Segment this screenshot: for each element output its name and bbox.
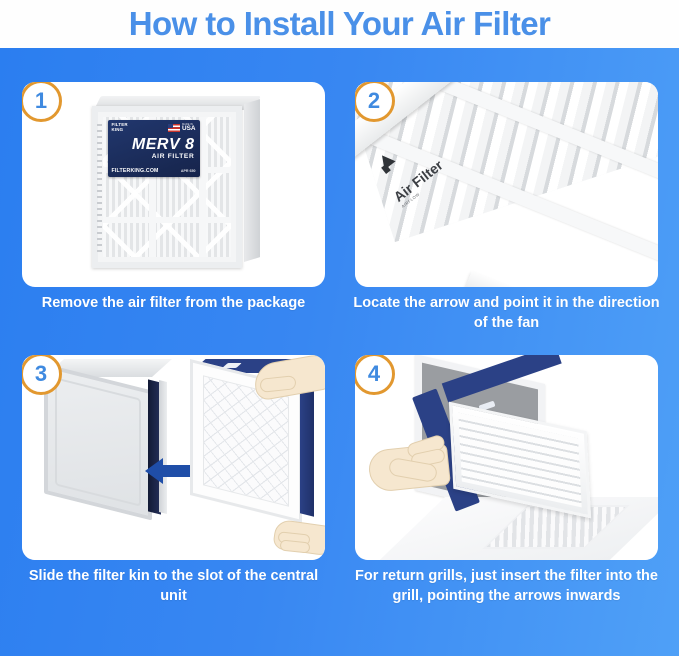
page-title: How to Install Your Air Filter <box>129 7 550 40</box>
label-header: FILTER KING MADE IN USA <box>108 122 200 134</box>
brand-logo: FILTER KING <box>112 123 128 132</box>
step-1-card: FILTER KING MADE IN USA <box>22 82 325 287</box>
step-caption-4: For return grills, just insert the filte… <box>349 567 664 606</box>
filter-front-face: FILTER KING MADE IN USA <box>92 106 242 268</box>
central-unit-panel <box>55 377 141 506</box>
step-4-card: 4 <box>355 355 658 560</box>
step-4: 4 For return grills, just insert the fil… <box>355 355 658 608</box>
slide-filter-illustration <box>22 355 325 560</box>
made-in-block: MADE IN USA <box>182 124 196 133</box>
us-flag-icon <box>168 124 180 132</box>
filter-frame-side <box>300 377 314 516</box>
made-in-usa: MADE IN USA <box>168 124 196 133</box>
made-in-text: MADE IN <box>182 124 196 127</box>
step-1: FILTER KING MADE IN USA <box>22 82 325 335</box>
central-unit-face <box>44 364 152 521</box>
finger-lower-2 <box>280 539 311 553</box>
step-2: Air Filter AIRFLOW 2 Locate the arrow an… <box>355 82 658 335</box>
air-filter-product-photo: FILTER KING MADE IN USA <box>88 96 260 272</box>
step-1-image: FILTER KING MADE IN USA <box>22 82 325 287</box>
steps-grid: FILTER KING MADE IN USA <box>0 48 679 656</box>
label-footer: FILTERKING.COM APR 650 <box>112 168 196 174</box>
step-3: 3 Slide the filter kin to the slot of th… <box>22 355 325 608</box>
step-caption-3: Slide the filter kin to the slot of the … <box>16 567 331 606</box>
label-subtitle: AIR FILTER <box>108 154 195 161</box>
return-grill-illustration <box>355 355 658 560</box>
country-text: USA <box>182 126 196 132</box>
filter-side-edge <box>244 99 260 262</box>
step-caption-1: Remove the air filter from the package <box>16 294 331 314</box>
title-bar: How to Install Your Air Filter <box>0 0 679 48</box>
step-caption-2: Locate the arrow and point it in the dir… <box>349 294 664 333</box>
product-label: FILTER KING MADE IN USA <box>108 120 200 177</box>
step-4-image <box>355 355 658 560</box>
filter-brace-vertical <box>199 117 206 257</box>
label-model: APR 650 <box>181 169 196 173</box>
grill-louvers <box>458 413 581 508</box>
step-2-card: Air Filter AIRFLOW 2 <box>355 82 658 287</box>
infographic-page: How to Install Your Air Filter <box>0 0 679 656</box>
step-3-image <box>22 355 325 560</box>
frame-edge-right <box>462 271 658 287</box>
filter-comb-edge <box>97 124 102 252</box>
filter-corner-photo: Air Filter AIRFLOW <box>355 82 658 287</box>
brand-line-2: KING <box>112 128 128 133</box>
filter-brace-horizontal <box>103 217 231 223</box>
step-3-card: 3 <box>22 355 325 560</box>
merv-rating: MERV 8 <box>108 137 195 153</box>
filter-slot-edge <box>159 380 167 514</box>
step-2-image: Air Filter AIRFLOW <box>355 82 658 287</box>
label-website: FILTERKING.COM <box>112 168 159 174</box>
